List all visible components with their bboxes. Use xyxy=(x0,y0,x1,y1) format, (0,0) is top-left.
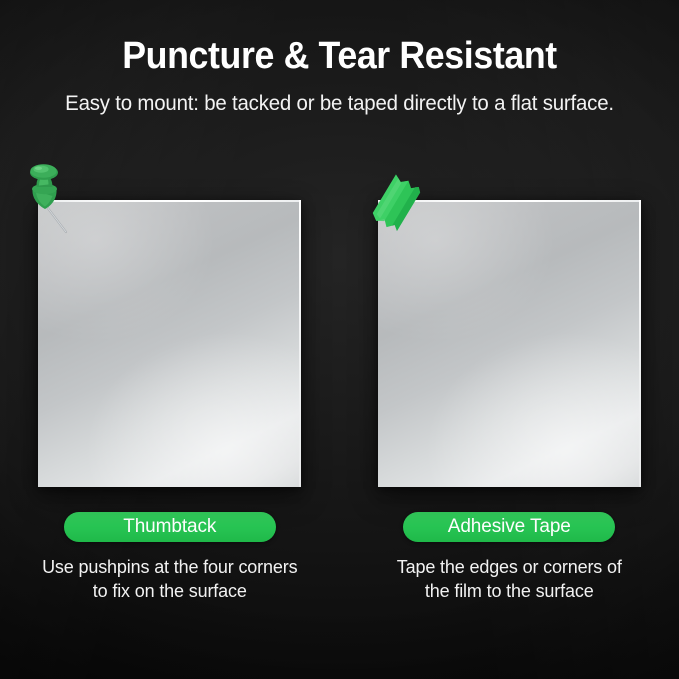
caption-line-2: to fix on the surface xyxy=(20,580,320,604)
panel-thumbtack: Thumbtack Use pushpins at the four corne… xyxy=(0,150,340,620)
label-pill-adhesive-tape[interactable]: Adhesive Tape xyxy=(403,512,615,542)
film-sheet-tape xyxy=(378,200,641,487)
promo-graphic: Puncture & Tear Resistant Easy to mount:… xyxy=(0,0,679,679)
panel-row: Thumbtack Use pushpins at the four corne… xyxy=(0,150,679,620)
caption-adhesive-tape: Tape the edges or corners of the film to… xyxy=(359,556,659,604)
caption-line-2: the film to the surface xyxy=(359,580,659,604)
caption-line-1: Use pushpins at the four corners xyxy=(20,556,320,580)
caption-thumbtack: Use pushpins at the four corners to fix … xyxy=(20,556,320,604)
label-pill-thumbtack[interactable]: Thumbtack xyxy=(64,512,276,542)
caption-line-1: Tape the edges or corners of xyxy=(359,556,659,580)
film-sheet-surface xyxy=(378,200,641,487)
film-sheet-surface xyxy=(38,200,301,487)
page-title: Puncture & Tear Resistant xyxy=(20,36,658,77)
film-sheet-thumbtack xyxy=(38,200,301,487)
page-subtitle: Easy to mount: be tacked or be taped dir… xyxy=(17,91,662,116)
panel-adhesive-tape: Adhesive Tape Tape the edges or corners … xyxy=(340,150,679,620)
